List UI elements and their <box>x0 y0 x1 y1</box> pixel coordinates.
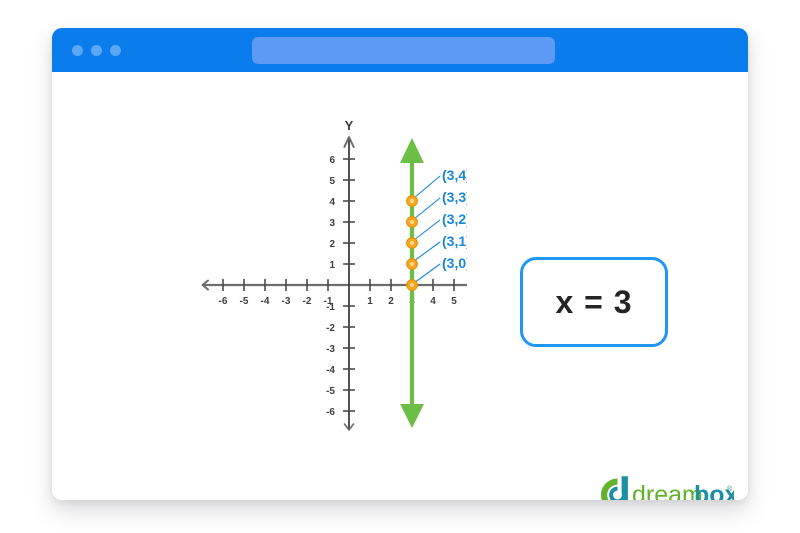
y-tick-label: -6 <box>326 407 335 418</box>
dreambox-logo-svg: dream box ® By Discovery Education <box>599 472 734 500</box>
leader-lines <box>414 176 440 283</box>
coordinate-plane: -6 -5 -4 -3 -2 -1 1 2 3 4 5 6 6 5 4 3 <box>137 110 467 440</box>
logo-trademark: ® <box>727 485 733 493</box>
y-tick-label: 6 <box>329 155 335 166</box>
y-tick-label: -4 <box>326 365 335 376</box>
x-tick-label: -6 <box>219 296 228 307</box>
y-tick-label: -2 <box>326 323 335 334</box>
window-control-dots <box>72 45 121 56</box>
point-label-3-0: (3,0) <box>442 255 467 271</box>
x-tick-label: 5 <box>451 296 457 307</box>
equation-text: x = 3 <box>555 284 632 321</box>
dreambox-mark-icon <box>601 476 628 500</box>
maximize-dot-icon[interactable] <box>110 45 121 56</box>
x-tick-label: -5 <box>240 296 249 307</box>
point-label-3-3: (3,3) <box>442 189 467 205</box>
x-tick-label: 1 <box>367 296 373 307</box>
minimize-dot-icon[interactable] <box>91 45 102 56</box>
dreambox-logo: dream box ® By Discovery Education <box>599 472 734 500</box>
browser-window: -6 -5 -4 -3 -2 -1 1 2 3 4 5 6 6 5 4 3 <box>52 28 748 500</box>
y-tick-label: 1 <box>329 260 335 271</box>
x-tick-label: 2 <box>388 296 394 307</box>
point-label-3-4: (3,4) <box>442 167 467 183</box>
y-axis-label: Y <box>345 118 354 133</box>
screenshot-root: -6 -5 -4 -3 -2 -1 1 2 3 4 5 6 6 5 4 3 <box>0 0 800 533</box>
y-tick-label: 4 <box>329 197 335 208</box>
browser-title-bar <box>52 28 748 72</box>
point-label-3-2: (3,2) <box>442 211 467 227</box>
y-tick-label: 2 <box>329 239 335 250</box>
close-dot-icon[interactable] <box>72 45 83 56</box>
x-tick-label: -4 <box>261 296 270 307</box>
line-top-arrow-icon <box>400 138 424 163</box>
address-bar-input[interactable] <box>252 37 555 64</box>
point-label-3-1: (3,1) <box>442 233 467 249</box>
x-tick-label: 4 <box>430 296 436 307</box>
y-tick-label: 3 <box>329 218 335 229</box>
y-tick-label: -3 <box>326 344 335 355</box>
page-content: -6 -5 -4 -3 -2 -1 1 2 3 4 5 6 6 5 4 3 <box>52 72 748 500</box>
line-bottom-arrow-icon <box>400 404 424 428</box>
graph-svg: -6 -5 -4 -3 -2 -1 1 2 3 4 5 6 6 5 4 3 <box>137 110 467 440</box>
x-tick-label: -2 <box>303 296 312 307</box>
logo-word-dream: dream <box>632 481 703 500</box>
equation-card: x = 3 <box>520 257 668 347</box>
y-tick-label: -5 <box>326 386 335 397</box>
y-tick-label: -1 <box>326 302 335 313</box>
x-tick-label: -3 <box>282 296 291 307</box>
y-tick-label: 5 <box>329 176 335 187</box>
